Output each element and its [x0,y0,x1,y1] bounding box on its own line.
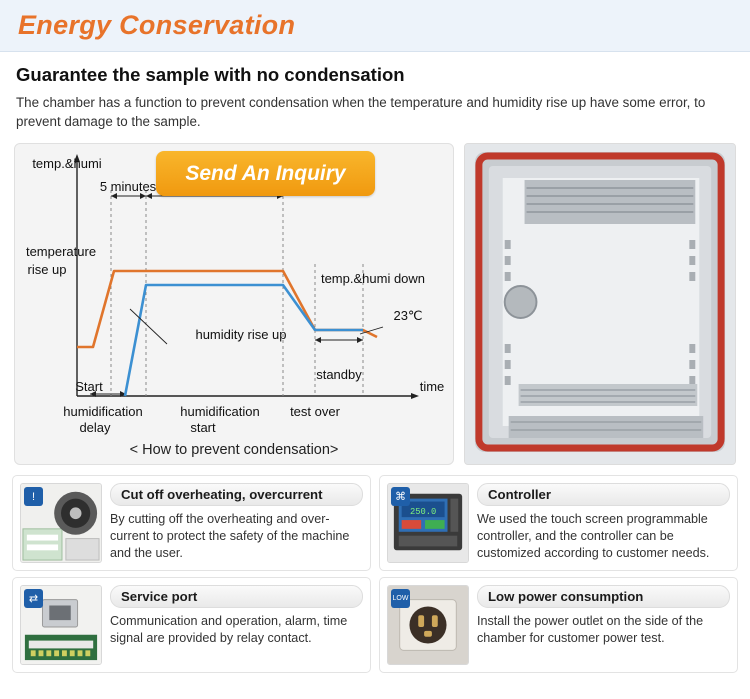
section-intro: Guarantee the sample with no condensatio… [0,52,750,131]
svg-text:temp.&humi down: temp.&humi down [321,271,425,286]
service-port-photo: ⇄ [20,585,102,665]
feature-title: Low power consumption [477,585,730,608]
svg-text:delay: delay [79,420,111,435]
svg-text:start: start [190,420,216,435]
chart-caption: < How to prevent condensation> [15,442,453,458]
svg-text:temperature: temperature [26,244,96,259]
page-title: Energy Conservation [18,10,295,41]
feature-card-controller[interactable]: ⌘ 250.0 Controller We used the touch scr… [379,475,738,571]
feature-body: Controller We used the touch screen prog… [477,483,730,563]
feature-title: Service port [110,585,363,608]
feature-card-overheat[interactable]: ! Cut off overheating, overcurrent By cu… [12,475,371,571]
controller-icon: ⌘ [391,487,410,506]
overheat-protector-photo: ! [20,483,102,563]
feature-body: Cut off overheating, overcurrent By cutt… [110,483,363,563]
low-power-icon: LOW [391,589,410,608]
feature-title: Controller [477,483,730,506]
data-transfer-icon: ⇄ [24,589,43,608]
feature-card-service-port[interactable]: ⇄ Service port Communication and operati… [12,577,371,673]
chamber-photo-graphic [465,144,735,464]
warning-icon: ! [24,487,43,506]
feature-card-low-power[interactable]: LOW Low power consumption Install the po… [379,577,738,673]
chamber-interior-photo [464,143,736,465]
middle-panel: temp.&humi 5 minutes testing temperature… [14,143,736,465]
page-banner: Energy Conservation [0,0,750,52]
send-inquiry-button[interactable]: Send An Inquiry [156,151,375,196]
svg-text:humidification: humidification [63,404,143,419]
svg-text:test over: test over [290,404,341,419]
feature-body: Low power consumption Install the power … [477,585,730,665]
svg-text:humidification: humidification [180,404,260,419]
section-heading: Guarantee the sample with no condensatio… [16,64,734,86]
features-grid: ! Cut off overheating, overcurrent By cu… [12,475,738,673]
feature-text: Install the power outlet on the side of … [477,613,730,646]
power-outlet-photo: LOW [387,585,469,665]
feature-text: We used the touch screen programmable co… [477,511,730,561]
section-description: The chamber has a function to prevent co… [16,93,734,131]
feature-text: By cutting off the overheating and over-… [110,511,363,561]
svg-text:time: time [420,379,445,394]
svg-text:standby: standby [316,367,362,382]
svg-text:23℃: 23℃ [393,308,422,323]
svg-text:5 minutes: 5 minutes [100,179,157,194]
condensation-chart-card: temp.&humi 5 minutes testing temperature… [14,143,454,465]
svg-text:Start: Start [75,379,103,394]
svg-text:temp.&humi: temp.&humi [32,156,101,171]
controller-panel-photo: ⌘ 250.0 [387,483,469,563]
svg-text:rise up: rise up [27,262,66,277]
svg-text:250.0: 250.0 [410,507,436,517]
feature-body: Service port Communication and operation… [110,585,363,665]
svg-text:humidity rise up: humidity rise up [195,327,286,342]
feature-text: Communication and operation, alarm, time… [110,613,363,646]
feature-title: Cut off overheating, overcurrent [110,483,363,506]
